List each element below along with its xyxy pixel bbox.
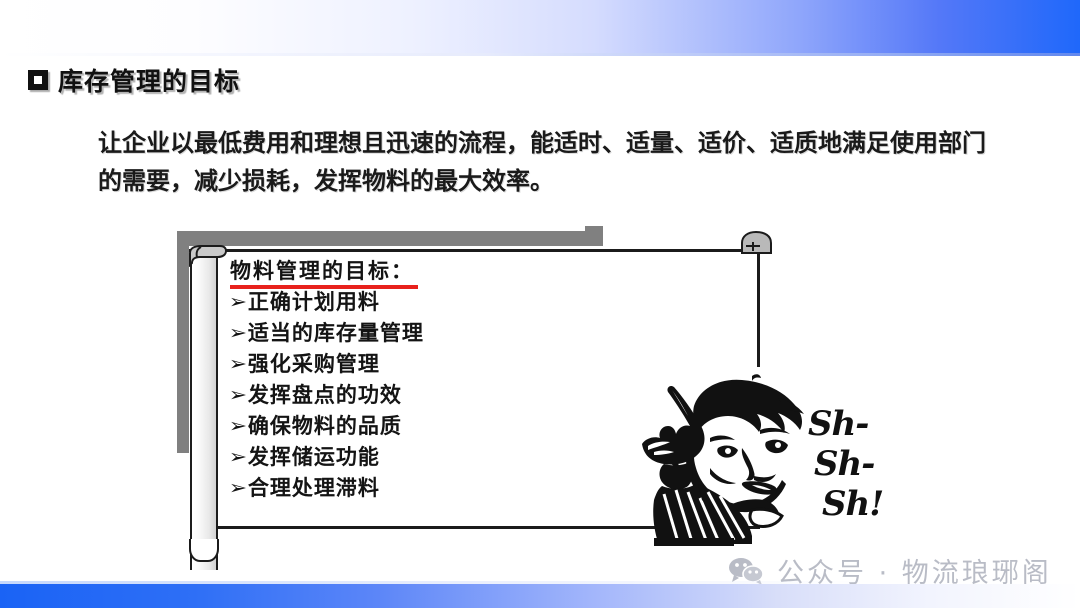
scroll-top-rule bbox=[189, 249, 760, 252]
scroll-title: 物料管理的目标： bbox=[230, 255, 414, 285]
scroll-text-block: 物料管理的目标： ➢ 正确计划用料 ➢ 适当的库存量管理 ➢ 强化采购管理 ➢ … bbox=[230, 255, 650, 504]
arrow-bullet-icon: ➢ bbox=[229, 442, 248, 473]
top-gradient-band bbox=[0, 0, 1080, 53]
list-item-label: 适当的库存量管理 bbox=[248, 318, 424, 349]
scroll-curl-top-left-icon bbox=[186, 245, 228, 267]
arrow-bullet-icon: ➢ bbox=[229, 473, 248, 504]
list-item-label: 正确计划用料 bbox=[248, 287, 380, 318]
arrow-bullet-icon: ➢ bbox=[229, 411, 248, 442]
scroll-rolled-edge bbox=[190, 252, 218, 570]
arrow-bullet-icon: ➢ bbox=[229, 349, 248, 380]
list-item-label: 合理处理滞料 bbox=[248, 473, 380, 504]
page-title-label: 库存管理的目标 bbox=[58, 62, 240, 98]
speech-text: Sh- Sh- Sh! bbox=[808, 404, 928, 544]
list-item: ➢ 强化采购管理 bbox=[230, 349, 650, 380]
scroll-curl-top-right-icon bbox=[736, 229, 778, 255]
arrow-bullet-icon: ➢ bbox=[229, 318, 248, 349]
arrow-bullet-icon: ➢ bbox=[229, 380, 248, 411]
list-item: ➢ 正确计划用料 bbox=[230, 287, 650, 318]
scroll-right-rule bbox=[757, 249, 760, 367]
list-item: ➢ 发挥盘点的功效 bbox=[230, 380, 650, 411]
whispering-man-cartoon-icon bbox=[602, 372, 832, 548]
list-item: ➢ 适当的库存量管理 bbox=[230, 318, 650, 349]
scroll-title-underline bbox=[230, 284, 418, 289]
bottom-gradient-band bbox=[0, 584, 1080, 608]
arrow-bullet-icon: ➢ bbox=[229, 287, 248, 318]
list-item: ➢ 合理处理滞料 bbox=[230, 473, 650, 504]
list-item-label: 发挥储运功能 bbox=[248, 442, 380, 473]
speech-line-2: Sh- bbox=[814, 444, 928, 484]
top-gradient-band-edge bbox=[0, 53, 1080, 56]
body-paragraph: 让企业以最低费用和理想且迅速的流程，能适时、适量、适价、适质地满足使用部门的需要… bbox=[98, 124, 1003, 200]
list-item: ➢ 确保物料的品质 bbox=[230, 411, 650, 442]
square-bullet-icon bbox=[28, 70, 48, 90]
list-item: ➢ 发挥储运功能 bbox=[230, 442, 650, 473]
list-item-label: 强化采购管理 bbox=[248, 349, 380, 380]
speech-line-1: Sh- bbox=[808, 404, 928, 444]
scroll-title-label: 物料管理的目标： bbox=[230, 259, 414, 283]
list-item-label: 发挥盘点的功效 bbox=[248, 380, 402, 411]
speech-line-3: Sh! bbox=[822, 484, 928, 524]
list-item-label: 确保物料的品质 bbox=[248, 411, 402, 442]
page-title: 库存管理的目标 bbox=[28, 62, 240, 98]
scroll-curl-bottom-left-icon bbox=[186, 537, 228, 563]
